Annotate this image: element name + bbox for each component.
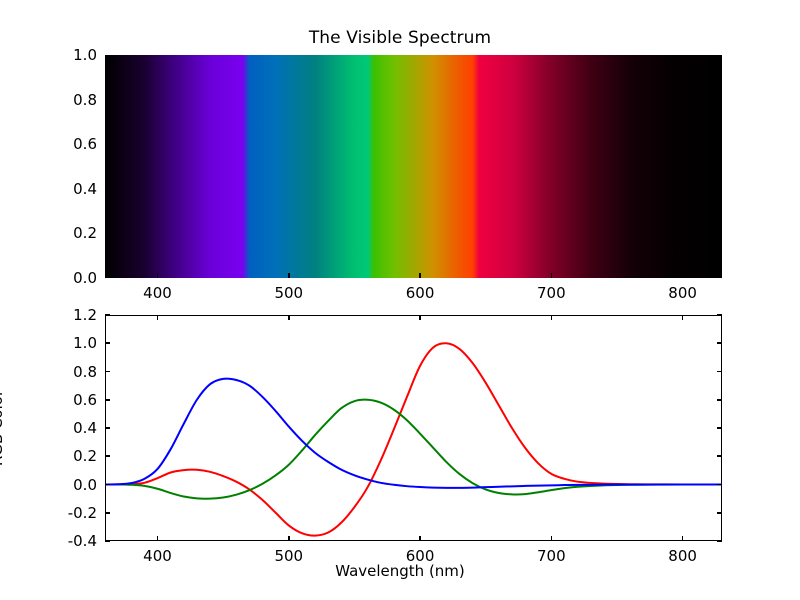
curve-blue (105, 379, 722, 488)
y-tick (105, 314, 110, 316)
x-tick-label: 400 (143, 284, 172, 302)
y-tick-label: 0.6 (41, 391, 97, 409)
y-tick-label: 0.6 (41, 135, 97, 153)
y-tick (105, 399, 110, 401)
x-tick (419, 273, 421, 278)
x-tick-top (288, 315, 290, 320)
spectrum-gradient-image (105, 55, 722, 278)
y-tick-right (717, 314, 722, 316)
curves-panel (105, 315, 722, 541)
x-tick (288, 273, 290, 278)
y-tick-label: 1.0 (41, 334, 97, 352)
y-tick-right (717, 399, 722, 401)
y-tick-label: 0.2 (41, 447, 97, 465)
y-tick-label: 0.0 (41, 476, 97, 494)
x-tick (551, 536, 553, 541)
y-axis-title: RGB Color (0, 390, 6, 466)
y-tick (105, 342, 110, 344)
y-tick-label: -0.4 (41, 532, 97, 550)
x-tick-label: 600 (406, 284, 435, 302)
y-tick-right (717, 512, 722, 514)
y-tick-right (717, 540, 722, 542)
figure-title: The Visible Spectrum (0, 28, 800, 48)
rgb-curves-plot (105, 315, 722, 541)
x-tick (682, 536, 684, 541)
y-tick-label: 0.8 (41, 91, 97, 109)
x-tick-label: 800 (668, 284, 697, 302)
y-tick (105, 484, 110, 486)
x-tick-top (551, 315, 553, 320)
y-tick (105, 371, 110, 373)
matplotlib-figure: The Visible Spectrum 4005006007008000.00… (0, 0, 800, 600)
y-tick-label: 0.4 (41, 180, 97, 198)
curve-red (105, 343, 722, 535)
y-tick-label: 0.0 (41, 269, 97, 287)
x-tick-label: 700 (537, 284, 566, 302)
x-tick (157, 536, 159, 541)
y-tick (105, 455, 110, 457)
spectrum-panel (105, 55, 722, 278)
x-tick (419, 536, 421, 541)
y-tick-label: 0.2 (41, 224, 97, 242)
y-tick-right (717, 427, 722, 429)
x-tick-label: 500 (274, 284, 303, 302)
x-tick (288, 536, 290, 541)
y-tick-right (717, 484, 722, 486)
x-axis-title: Wavelength (nm) (0, 562, 800, 580)
x-tick (682, 273, 684, 278)
y-tick (105, 512, 110, 514)
y-tick-label: 1.2 (41, 306, 97, 324)
y-tick-label: 1.0 (41, 46, 97, 64)
y-tick-right (717, 455, 722, 457)
y-tick-right (717, 371, 722, 373)
x-tick-top (682, 315, 684, 320)
x-tick-top (157, 315, 159, 320)
y-tick-label: -0.2 (41, 504, 97, 522)
y-tick-right (717, 342, 722, 344)
y-tick (105, 540, 110, 542)
x-tick-top (419, 315, 421, 320)
y-tick-label: 0.8 (41, 363, 97, 381)
y-tick (105, 427, 110, 429)
x-tick (551, 273, 553, 278)
y-tick-label: 0.4 (41, 419, 97, 437)
x-tick (157, 273, 159, 278)
